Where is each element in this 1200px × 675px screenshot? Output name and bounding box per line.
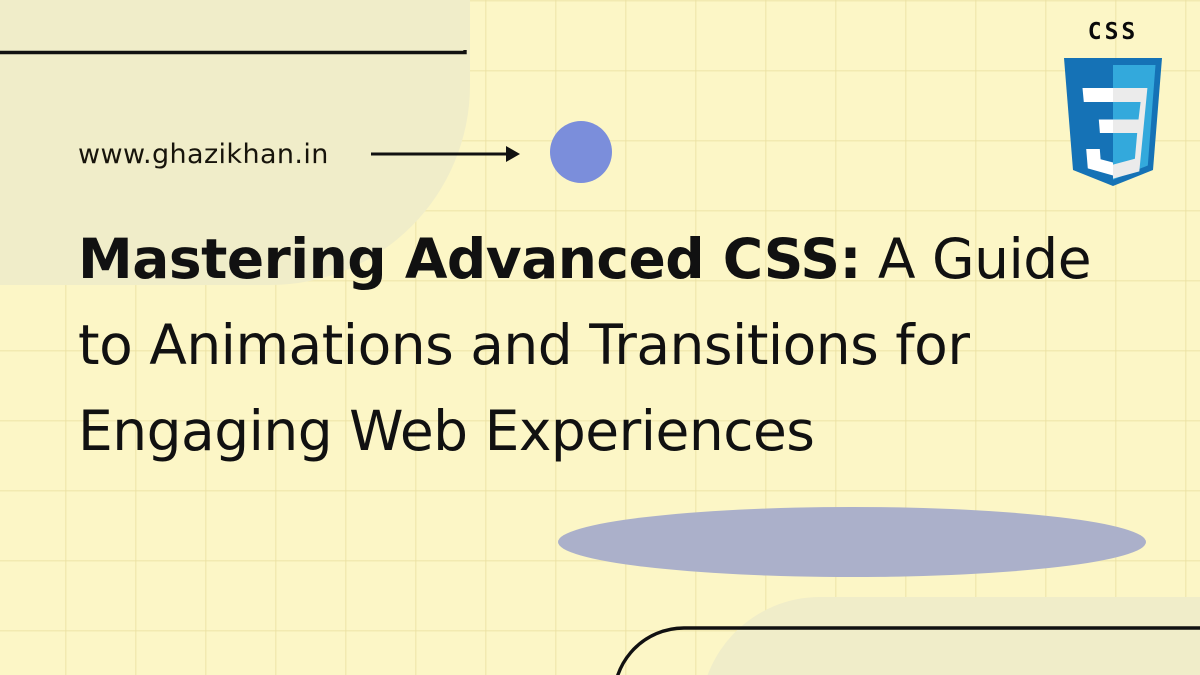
decorative-ellipse [558,507,1146,577]
arrow-head [506,146,520,162]
arrow-line [371,153,512,156]
arrow-right-icon [371,143,526,165]
website-url-text: www.ghazikhan.in [78,139,329,170]
corner-stroke-bottom-right [600,600,1200,675]
accent-circle [550,121,612,183]
page-title-bold: Mastering Advanced CSS: [78,227,861,291]
css3-shield-icon [1060,58,1166,186]
page-title: Mastering Advanced CSS: A Guide to Anima… [78,216,1158,474]
website-url-row: www.ghazikhan.in [78,128,526,180]
css3-wordmark: CSS [1054,18,1172,46]
banner-canvas: www.ghazikhan.in Mastering Advanced CSS:… [0,0,1200,675]
css3-logo: CSS [1054,18,1172,190]
